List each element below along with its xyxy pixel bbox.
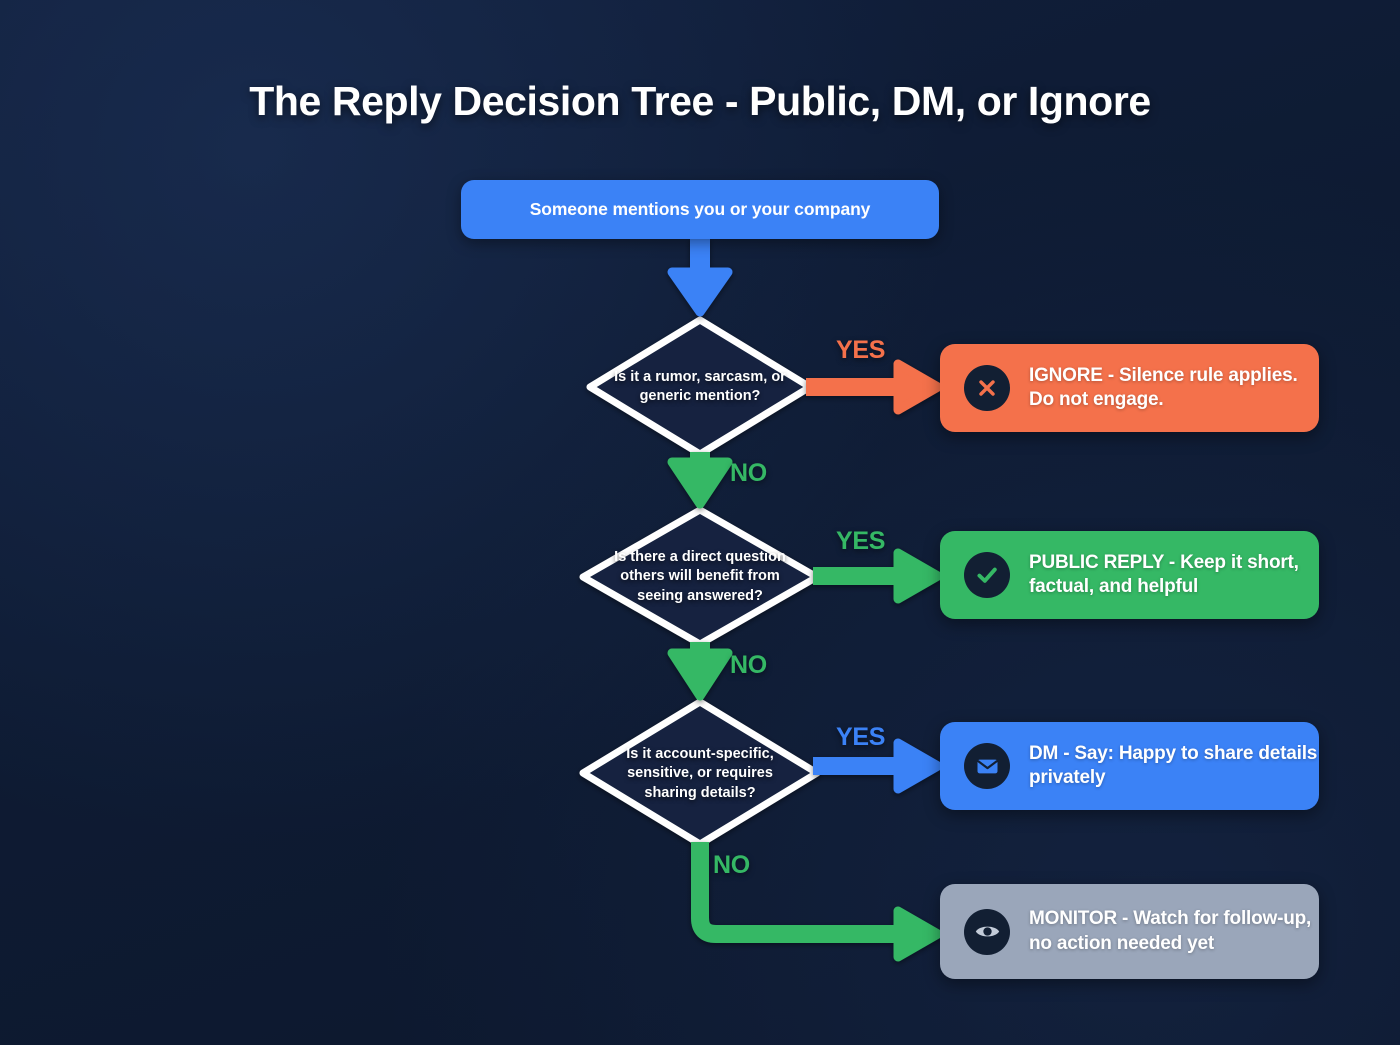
- decision-diamond-2[interactable]: Is there a direct question others will b…: [580, 507, 820, 647]
- start-node[interactable]: Someone mentions you or your company: [461, 180, 939, 239]
- page-title: The Reply Decision Tree - Public, DM, or…: [0, 78, 1400, 125]
- decision-diamond-3[interactable]: Is it account-specific, sensitive, or re…: [580, 700, 820, 848]
- outcome-label-ignore: IGNORE - Silence rule applies. Do not en…: [1029, 364, 1319, 412]
- outcome-card-dm[interactable]: DM - Say: Happy to share details private…: [940, 722, 1319, 810]
- x-circle-icon: [964, 365, 1010, 411]
- outcome-card-ignore[interactable]: IGNORE - Silence rule applies. Do not en…: [940, 344, 1319, 432]
- edge-label-no-3: NO: [713, 851, 750, 880]
- outcome-card-monitor[interactable]: MONITOR - Watch for follow-up, no action…: [940, 884, 1319, 979]
- start-node-label: Someone mentions you or your company: [530, 199, 871, 220]
- decision-diamond-3-label: Is it account-specific, sensitive, or re…: [608, 745, 793, 803]
- decision-diamond-2-label: Is there a direct question others will b…: [608, 548, 793, 606]
- decision-diamond-1-label: Is it a rumor, sarcasm, or generic menti…: [608, 368, 793, 407]
- edge-label-no-1: NO: [730, 459, 767, 488]
- edge-label-yes-1: YES: [836, 336, 885, 365]
- check-circle-icon: [964, 552, 1010, 598]
- envelope-icon: [964, 743, 1010, 789]
- outcome-card-public-reply[interactable]: PUBLIC REPLY - Keep it short, factual, a…: [940, 531, 1319, 619]
- decision-diamond-1[interactable]: Is it a rumor, sarcasm, or generic menti…: [587, 317, 813, 457]
- outcome-label-dm: DM - Say: Happy to share details private…: [1029, 742, 1319, 790]
- edge-label-no-2: NO: [730, 651, 767, 680]
- outcome-label-monitor: MONITOR - Watch for follow-up, no action…: [1029, 907, 1319, 955]
- edge-label-yes-3: YES: [836, 723, 885, 752]
- outcome-label-public-reply: PUBLIC REPLY - Keep it short, factual, a…: [1029, 551, 1319, 599]
- eye-icon: [964, 909, 1010, 955]
- edge-label-yes-2: YES: [836, 527, 885, 556]
